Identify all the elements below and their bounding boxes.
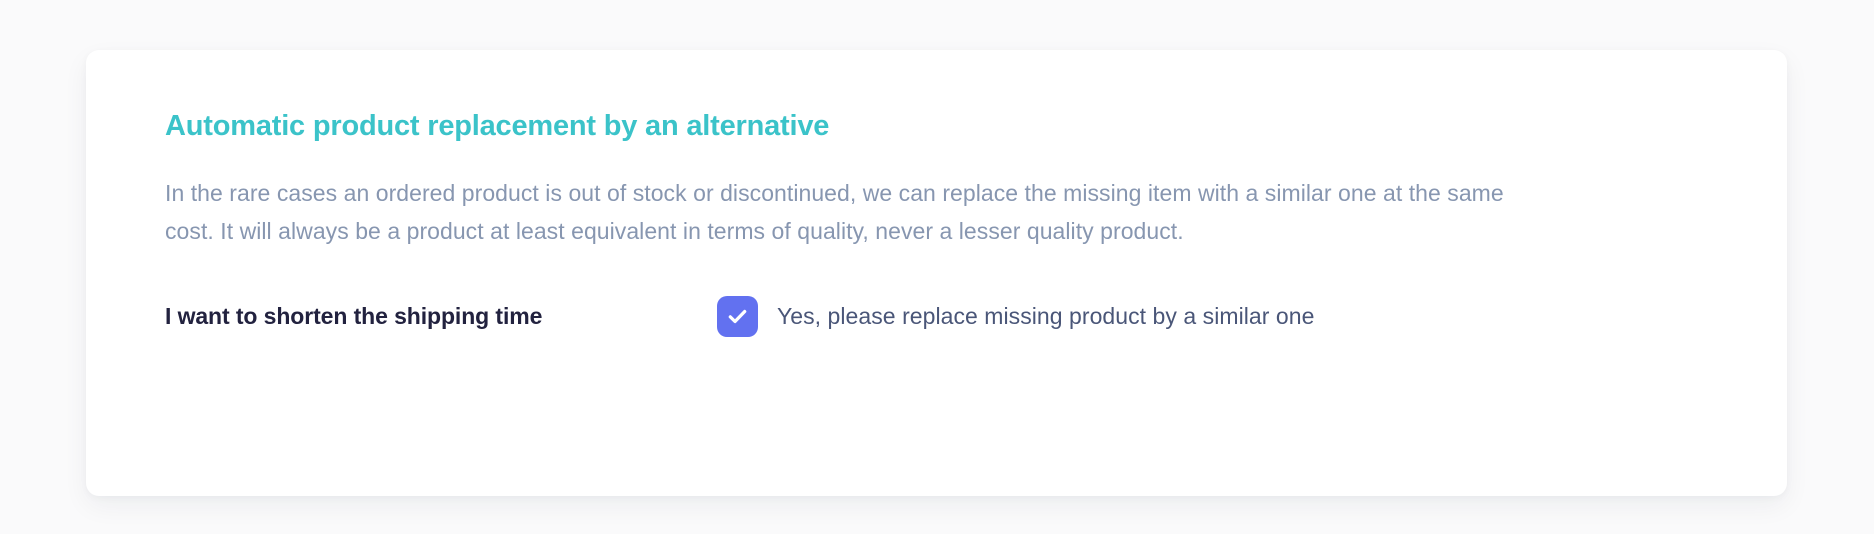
option-row: I want to shorten the shipping time Yes,… — [165, 292, 1314, 340]
option-label: I want to shorten the shipping time — [165, 292, 717, 340]
replacement-checkbox-label[interactable]: Yes, please replace missing product by a… — [777, 303, 1314, 330]
section-description: In the rare cases an ordered product is … — [165, 174, 1557, 250]
replacement-checkbox[interactable] — [717, 296, 758, 337]
page-stage: Automatic product replacement by an alte… — [0, 0, 1874, 534]
replacement-checkbox-group[interactable]: Yes, please replace missing product by a… — [717, 296, 1314, 337]
page-title: Automatic product replacement by an alte… — [165, 107, 829, 145]
check-icon — [726, 305, 749, 328]
settings-card: Automatic product replacement by an alte… — [86, 50, 1787, 496]
card-content: Automatic product replacement by an alte… — [165, 50, 1747, 496]
